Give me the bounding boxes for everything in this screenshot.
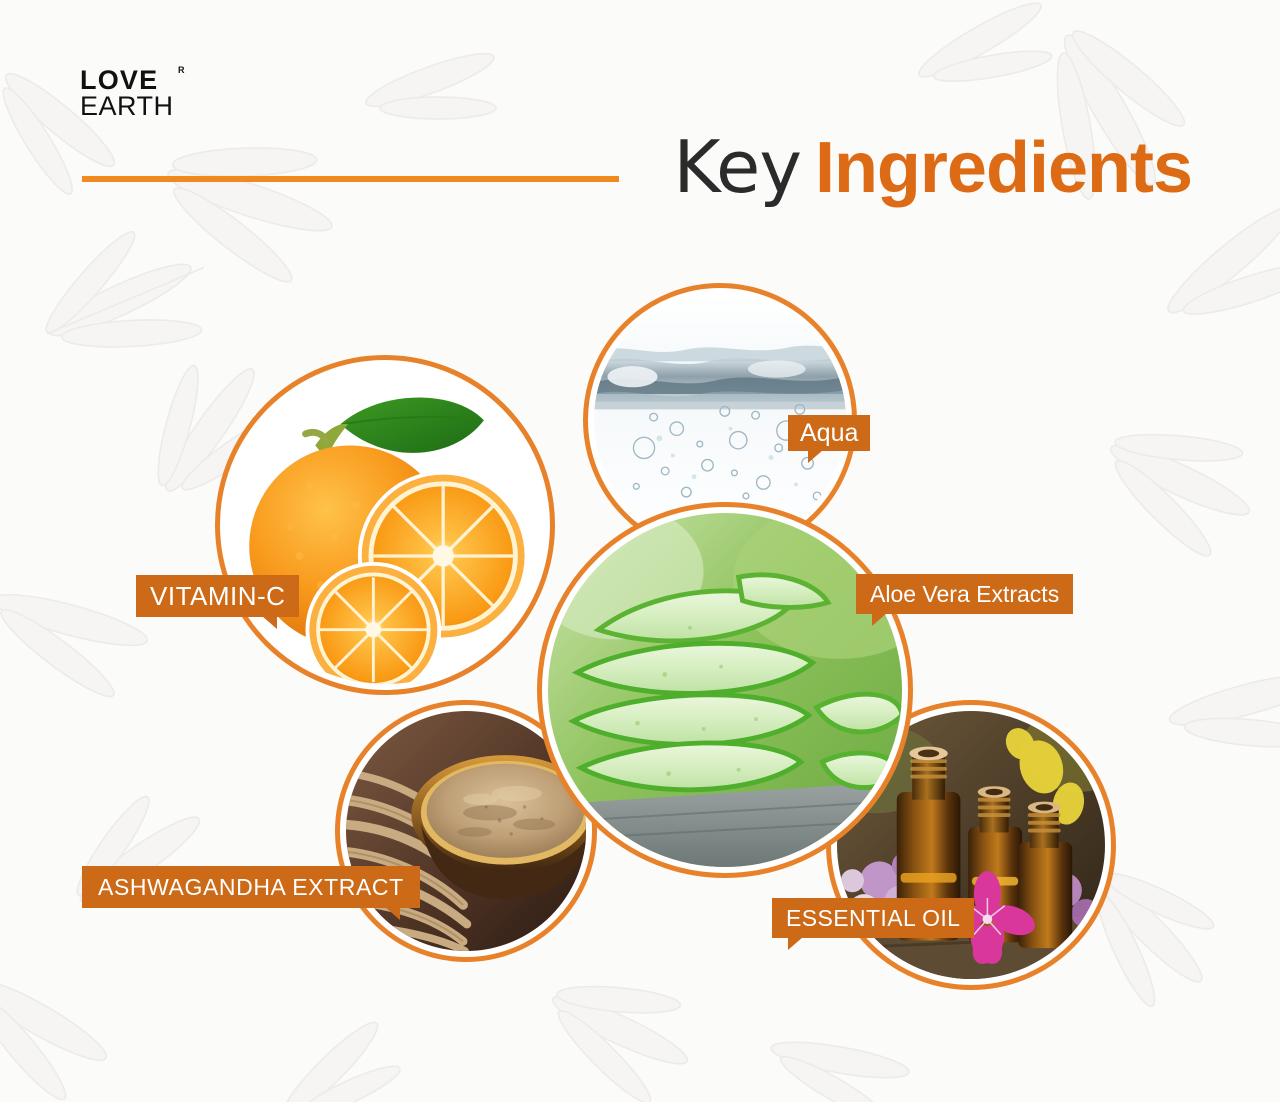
- page-title-bold: Ingredients: [815, 128, 1192, 208]
- ingredient-label-aqua[interactable]: Aqua: [788, 415, 870, 451]
- ingredient-label-ashwagandha-text: ASHWAGANDHA EXTRACT: [98, 874, 404, 901]
- brand-logo: LOVER EARTH: [80, 68, 174, 119]
- ingredient-label-aqua-text: Aqua: [800, 419, 858, 448]
- ingredient-label-essential-oil-text: ESSENTIAL OIL: [786, 905, 960, 932]
- page-title: KeyIngredients: [673, 131, 1192, 204]
- ingredient-label-vitamin-c-text: VITAMIN-C: [150, 581, 285, 612]
- brand-logo-love: LOVE: [80, 68, 158, 93]
- vitamin-c-photo: [226, 366, 544, 684]
- label-tail-essential-oil: [788, 937, 803, 950]
- ingredient-label-aloe-vera[interactable]: Aloe Vera Extracts: [856, 574, 1073, 614]
- label-tail-vitamin-c: [262, 616, 277, 629]
- label-tail-aqua: [808, 450, 823, 463]
- title-rule-divider: [82, 176, 619, 182]
- registered-trademark-icon: R: [178, 66, 185, 74]
- ingredient-label-vitamin-c[interactable]: VITAMIN-C: [136, 575, 299, 617]
- page-title-light: Key: [673, 125, 801, 209]
- brand-logo-earth: EARTH: [80, 94, 174, 119]
- ingredient-label-essential-oil[interactable]: ESSENTIAL OIL: [772, 898, 974, 938]
- label-tail-aloe-vera: [872, 613, 887, 626]
- ingredient-label-aloe-vera-text: Aloe Vera Extracts: [870, 581, 1059, 608]
- ingredient-circle-vitamin-c[interactable]: [215, 355, 555, 695]
- aloe-vera-photo: [548, 513, 902, 867]
- ingredient-circle-aloe-vera[interactable]: [537, 502, 913, 878]
- label-tail-ashwagandha: [385, 907, 400, 920]
- ingredient-label-ashwagandha[interactable]: ASHWAGANDHA EXTRACT: [82, 866, 420, 908]
